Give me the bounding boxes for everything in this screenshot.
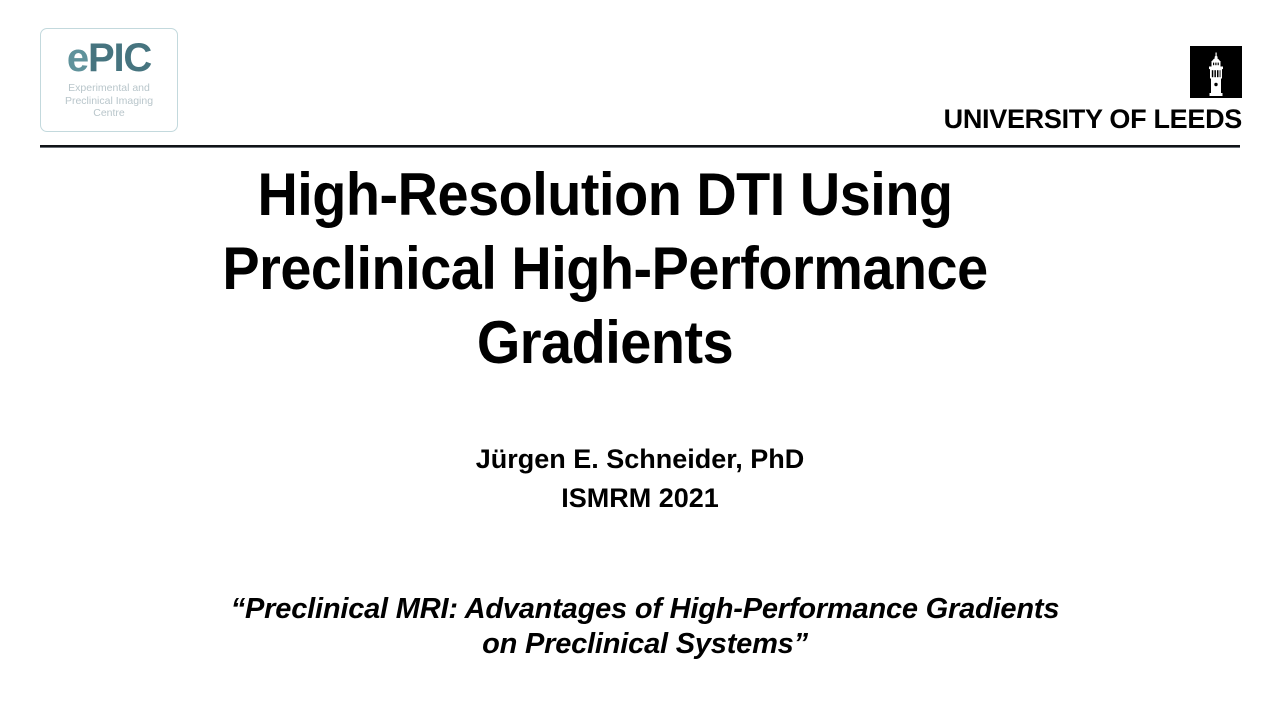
author-block: Jürgen E. Schneider, PhD ISMRM 2021 [0,440,1280,518]
epic-wordmark-e: e [67,36,88,80]
university-of-leeds-wordmark: UNIVERSITY OF LEEDS [942,104,1242,134]
slide-title-line-1: High-Resolution DTI Using [117,158,1094,232]
parkinson-tower-icon [1190,46,1242,98]
presentation-slide: ePIC Experimental and Preclinical Imagin… [0,0,1280,720]
slide-title: High-Resolution DTI Using Preclinical Hi… [117,158,1094,380]
talk-title-quote-line-2: on Preclinical Systems” [0,627,1280,662]
slide-header: ePIC Experimental and Preclinical Imagin… [0,0,1280,150]
slide-title-line-3: Gradients [117,306,1094,380]
epic-subtitle-line-2: Preclinical Imaging [41,95,177,108]
epic-logo: ePIC Experimental and Preclinical Imagin… [40,28,178,132]
epic-subtitle: Experimental and Preclinical Imaging Cen… [41,82,177,120]
epic-wordmark-pic: PIC [88,36,151,80]
author-name: Jürgen E. Schneider, PhD [0,440,1280,479]
talk-title-quote: “Preclinical MRI: Advantages of High-Per… [0,592,1280,662]
header-divider [40,145,1240,148]
epic-wordmark: ePIC [41,36,177,80]
conference-name: ISMRM 2021 [0,479,1280,518]
epic-subtitle-line-1: Experimental and [41,82,177,95]
talk-title-quote-line-1: “Preclinical MRI: Advantages of High-Per… [0,592,1280,627]
epic-subtitle-line-3: Centre [41,107,177,120]
university-of-leeds-logo: UNIVERSITY OF LEEDS [942,46,1242,134]
slide-title-line-2: Preclinical High-Performance [117,232,1094,306]
